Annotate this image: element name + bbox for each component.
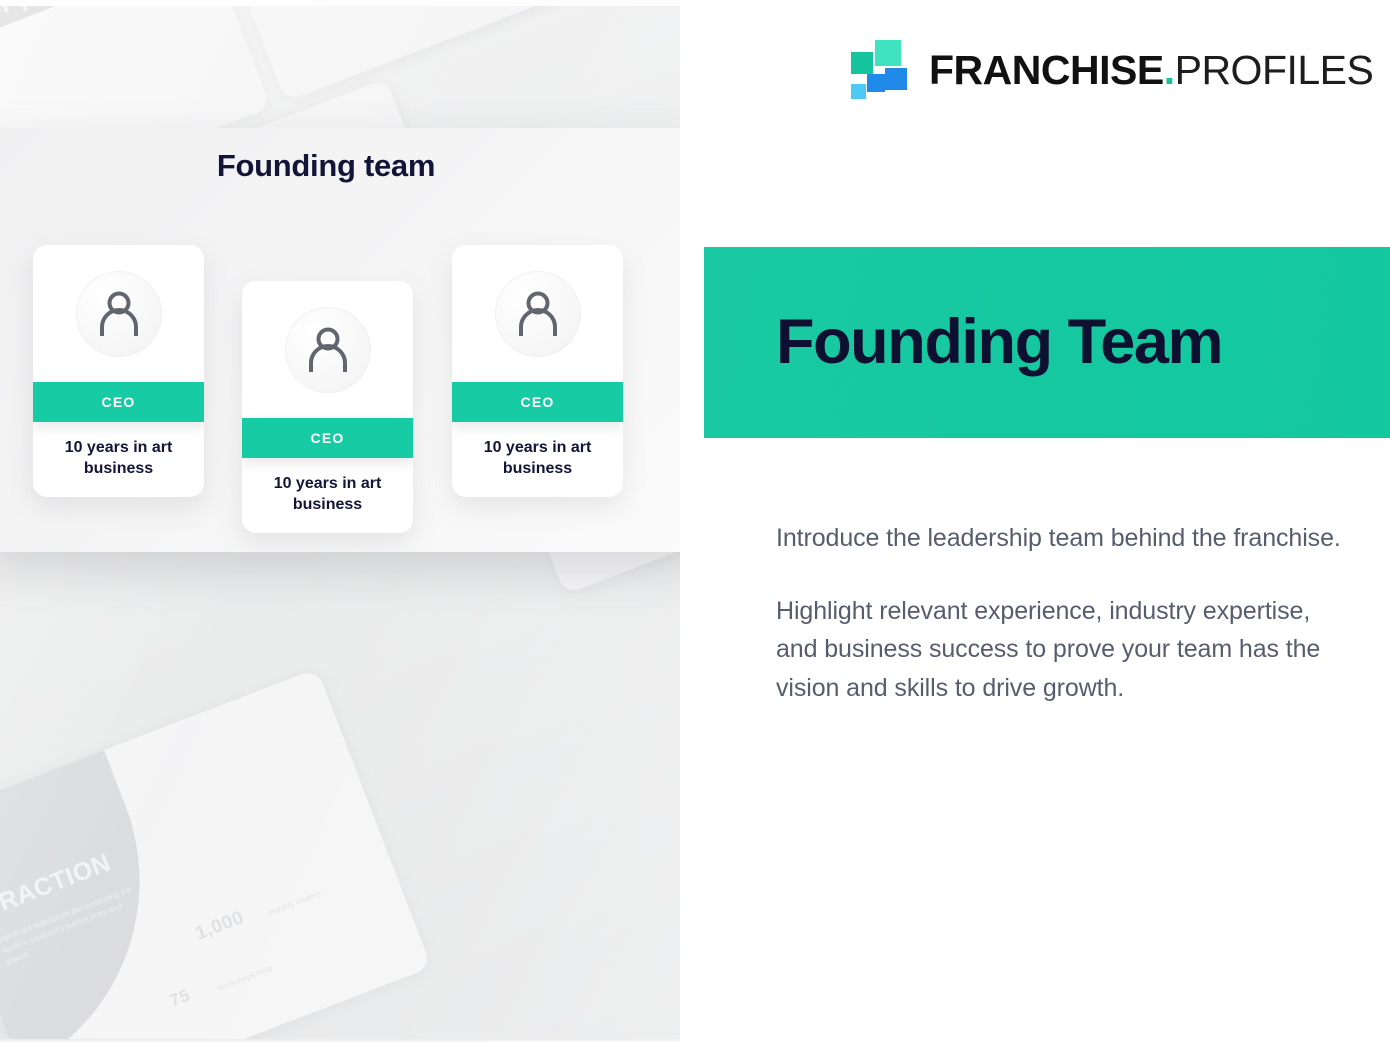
right-content-pane: FRANCHISE . PROFILES Founding Team Intro…: [680, 0, 1390, 1043]
avatar: [495, 271, 581, 357]
deck-slide-title: TRACTION: [0, 850, 114, 922]
avatar-area: [33, 245, 204, 382]
team-member-card[interactable]: CEO 10 years in art business: [33, 245, 204, 497]
team-member-card[interactable]: CEO 10 years in art business: [452, 245, 623, 497]
role-badge: CEO: [242, 418, 413, 458]
section-title-banner: Founding Team: [704, 247, 1390, 438]
bottom-edge-strip: [0, 1039, 680, 1043]
deck-slide-traction: TRACTION Significant milestones demonstr…: [0, 668, 432, 1043]
deck-blob: [0, 722, 201, 1043]
deck-stat-label: Monthly Visitors: [266, 889, 323, 920]
person-icon: [307, 327, 349, 373]
avatar: [285, 307, 371, 393]
paragraph-intro: Introduce the leadership team behind the…: [776, 519, 1350, 558]
avatar-area: [242, 281, 413, 418]
square-blue: [867, 74, 885, 92]
square-teal-large: [875, 40, 901, 66]
page-title: Founding Team: [776, 311, 1222, 374]
person-icon: [98, 291, 140, 337]
role-badge: CEO: [452, 382, 623, 422]
paragraph-highlight: Highlight relevant experience, industry …: [776, 592, 1350, 708]
member-description: 10 years in art business: [242, 458, 413, 515]
deck-stat-value: 1,000: [193, 908, 247, 944]
deck-stat-label: Workshops Held: [215, 963, 274, 995]
preview-heading: Founding team: [0, 148, 666, 184]
logo-word-thin: PROFILES: [1175, 47, 1374, 94]
logo-word-bold: FRANCHISE: [929, 47, 1164, 94]
person-icon: [517, 291, 559, 337]
deck-stat-value: 75: [168, 986, 193, 1009]
top-edge-strip: [0, 0, 680, 6]
square-green: [851, 52, 873, 74]
deck-bar: [0, 0, 155, 60]
member-description: 10 years in art business: [33, 422, 204, 479]
logo-wordmark: FRANCHISE . PROFILES: [929, 47, 1373, 94]
deck-slide-body: Significant milestones demonstrating the…: [0, 881, 150, 969]
founding-team-preview-card: Founding team CEO 10 years in art busine…: [0, 128, 702, 552]
square-blue-large: [885, 68, 907, 90]
logo-word-dot: .: [1164, 47, 1175, 94]
team-member-card[interactable]: CEO 10 years in art business: [242, 281, 413, 533]
square-cyan-small: [851, 84, 866, 99]
deck-slide-title: Investor pitch deck: [0, 0, 147, 51]
brand-logo: FRANCHISE . PROFILES: [849, 40, 1373, 100]
body-copy: Introduce the leadership team behind the…: [776, 519, 1350, 707]
avatar-area: [452, 245, 623, 382]
role-badge: CEO: [33, 382, 204, 422]
avatar: [76, 271, 162, 357]
member-description: 10 years in art business: [452, 422, 623, 479]
logo-squares-mark: [849, 40, 907, 100]
deck-slide-problem: THE PROBLEM Many individuals and communi…: [178, 0, 678, 102]
